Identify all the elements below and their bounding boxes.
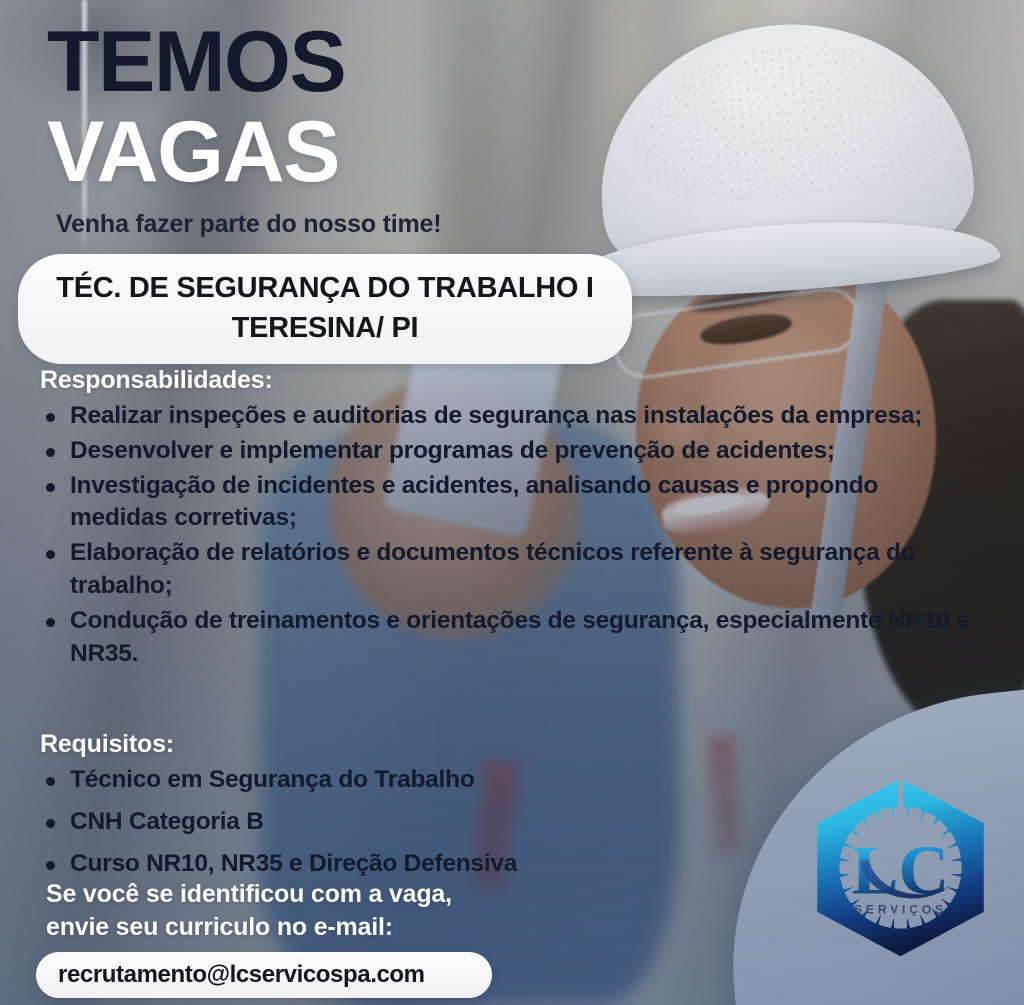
cta-line-2: envie seu curriculo no e-mail:	[46, 913, 393, 942]
job-title-card: TÉC. DE SEGURANÇA DO TRABALHO I TERESINA…	[18, 254, 632, 364]
poster-content: TEMOS VAGAS Venha fazer parte do nosso t…	[0, 0, 1024, 1005]
contact-email[interactable]: recrutamento@lcservicospa.com	[58, 961, 470, 989]
job-posting-poster: TEMOS VAGAS Venha fazer parte do nosso t…	[0, 0, 1024, 1005]
list-item: Elaboração de relatórios e documentos té…	[40, 537, 970, 603]
headline-vagas: VAGAS	[47, 112, 339, 193]
subheadline: Venha fazer parte do nosso time!	[56, 210, 441, 239]
company-logo: LC SERVIÇOS	[808, 775, 993, 960]
email-pill[interactable]: recrutamento@lcservicospa.com	[36, 952, 492, 998]
list-item: Condução de treinamentos e orientações d…	[40, 605, 970, 671]
lc-servicos-logo-icon: LC SERVIÇOS	[808, 775, 993, 960]
headline-temos: TEMOS	[47, 22, 345, 103]
list-item: Desenvolver e implementar programas de p…	[40, 435, 970, 468]
responsibilities-list: Realizar inspeções e auditorias de segur…	[40, 400, 970, 673]
cta-line-1: Se você se identificou com a vaga,	[46, 880, 452, 909]
job-title-line-1: TÉC. DE SEGURANÇA DO TRABALHO I	[36, 268, 614, 308]
logo-wordmark: SERVIÇOS	[854, 903, 947, 917]
responsibilities-heading: Responsabilidades:	[40, 366, 273, 395]
list-item: Investigação de incidentes e acidentes, …	[40, 470, 970, 536]
list-item: Realizar inspeções e auditorias de segur…	[40, 400, 970, 433]
requirements-heading: Requisitos:	[40, 730, 174, 759]
job-title-location: TERESINA/ PI	[36, 308, 614, 348]
